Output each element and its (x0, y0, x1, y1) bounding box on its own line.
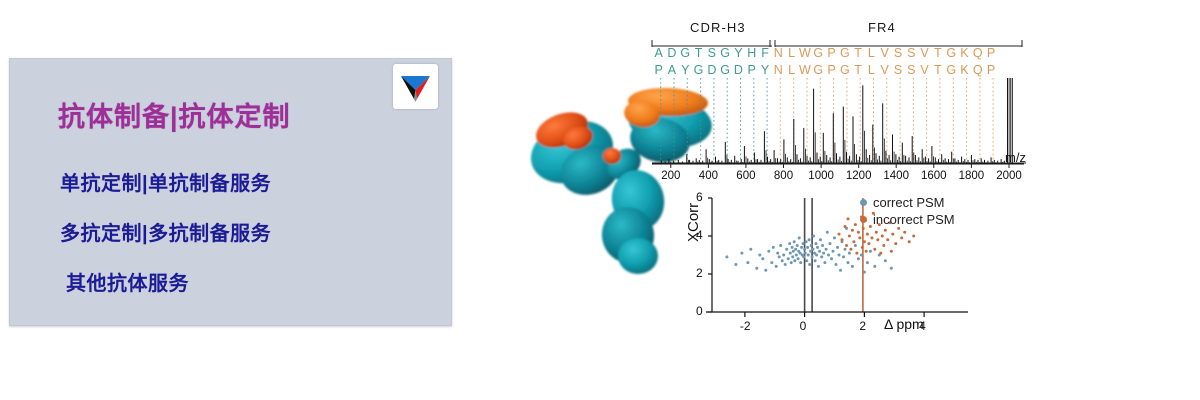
mz-tick-label: 1600 (921, 170, 947, 182)
mz-tick-label: 200 (661, 170, 680, 182)
scatter-x-axis-label: Δ ppm (884, 316, 924, 332)
mz-tick-label: 1200 (846, 170, 872, 182)
page-title: 抗体制备|抗体定制 (58, 95, 291, 134)
legend-dot-incorrect (860, 216, 867, 223)
scatter-x-tick-label: -2 (740, 319, 751, 333)
scatter-y-tick-label: 0 (696, 304, 703, 318)
company-logo-badge (393, 64, 438, 109)
xcorr-scatter-plot: XCorr Δ ppm 0246 -2024 correct PSM incor… (670, 190, 970, 370)
sequence-alignment-block: CDR-H3 FR4 ADGTSGYHFNLWGPGTLVSSVTGKQP PA… (650, 20, 1025, 80)
legend-dot-correct (860, 199, 867, 206)
region-label-fr4: FR4 (868, 20, 896, 35)
promo-link-other-services[interactable]: 其他抗体服务 (66, 267, 189, 296)
science-figure: CDR-H3 FR4 ADGTSGYHFNLWGPGTLVSSVTGKQP PA… (520, 0, 1040, 380)
promo-link-polyclonal[interactable]: 多抗定制|多抗制备服务 (60, 217, 271, 246)
mz-tick-label: 1800 (959, 170, 985, 182)
mz-tick-label: 1000 (808, 170, 834, 182)
scatter-y-tick-label: 4 (696, 228, 703, 242)
promo-link-monoclonal[interactable]: 单抗定制|单抗制备服务 (60, 167, 271, 196)
scatter-legend: correct PSM incorrect PSM (860, 194, 955, 228)
scatter-y-tick-label: 6 (696, 190, 703, 204)
mz-tick-label: 400 (699, 170, 718, 182)
legend-item-correct: correct PSM (860, 194, 955, 211)
scatter-x-tick-label: 4 (919, 319, 926, 333)
scatter-x-tick-label: 0 (800, 319, 807, 333)
scatter-x-tick-label: 2 (859, 319, 866, 333)
mz-tick-label: 2000 (996, 170, 1022, 182)
mz-axis-label: m/z (1005, 150, 1026, 165)
promo-panel: 抗体制备|抗体定制 单抗定制|单抗制备服务 多抗定制|多抗制备服务 其他抗体服务 (9, 58, 452, 326)
mz-tick-labels: 200400600800100012001400160018002000 (650, 170, 1030, 186)
legend-item-incorrect: incorrect PSM (860, 211, 955, 228)
legend-label-correct: correct PSM (873, 195, 945, 210)
scatter-y-tick-label: 2 (696, 266, 703, 280)
promo-panel-inner: 抗体制备|抗体定制 单抗定制|单抗制备服务 多抗定制|多抗制备服务 其他抗体服务 (10, 59, 451, 325)
screenshot-root: 抗体制备|抗体定制 单抗定制|单抗制备服务 多抗定制|多抗制备服务 其他抗体服务 (0, 0, 1200, 400)
mz-tick-label: 600 (736, 170, 755, 182)
mass-spectrum-plot (652, 78, 1024, 168)
region-label-cdrh3: CDR-H3 (690, 20, 746, 35)
legend-label-incorrect: incorrect PSM (873, 212, 955, 227)
mz-tick-label: 1400 (883, 170, 909, 182)
mz-tick-label: 800 (774, 170, 793, 182)
chevron-3d-logo-icon (393, 64, 438, 109)
sequence-row-top: ADGTSGYHFNLWGPGTLVSSVTGKQP (652, 46, 1025, 63)
